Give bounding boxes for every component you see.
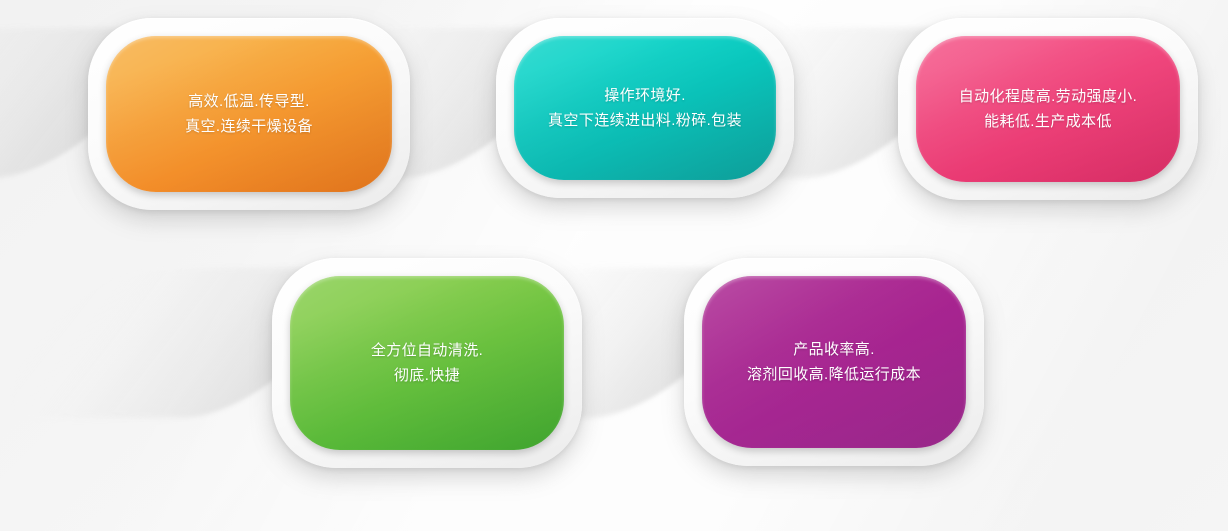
- feature-card-orange-panel: 高效.低温.传导型. 真空.连续干燥设备: [106, 36, 392, 192]
- feature-card-purple-panel: 产品收率高. 溶剂回收高.降低运行成本: [702, 276, 966, 448]
- feature-card-green-text: 全方位自动清洗. 彻底.快捷: [349, 338, 505, 388]
- feature-card-green[interactable]: 全方位自动清洗. 彻底.快捷: [272, 258, 582, 468]
- feature-card-orange-text: 高效.低温.传导型. 真空.连续干燥设备: [163, 89, 335, 139]
- feature-card-teal-text: 操作环境好. 真空下连续进出料.粉碎.包装: [526, 83, 764, 133]
- feature-card-teal-panel: 操作环境好. 真空下连续进出料.粉碎.包装: [514, 36, 776, 180]
- feature-card-green-panel: 全方位自动清洗. 彻底.快捷: [290, 276, 564, 450]
- feature-card-purple[interactable]: 产品收率高. 溶剂回收高.降低运行成本: [684, 258, 984, 466]
- feature-card-pink-panel: 自动化程度高.劳动强度小. 能耗低.生产成本低: [916, 36, 1180, 182]
- feature-card-purple-text: 产品收率高. 溶剂回收高.降低运行成本: [725, 337, 943, 387]
- feature-card-pink-text: 自动化程度高.劳动强度小. 能耗低.生产成本低: [937, 84, 1160, 134]
- feature-cards-stage: 高效.低温.传导型. 真空.连续干燥设备 操作环境好. 真空下连续进出料.粉碎.…: [0, 0, 1228, 531]
- feature-card-orange[interactable]: 高效.低温.传导型. 真空.连续干燥设备: [88, 18, 410, 210]
- feature-card-teal[interactable]: 操作环境好. 真空下连续进出料.粉碎.包装: [496, 18, 794, 198]
- feature-card-pink[interactable]: 自动化程度高.劳动强度小. 能耗低.生产成本低: [898, 18, 1198, 200]
